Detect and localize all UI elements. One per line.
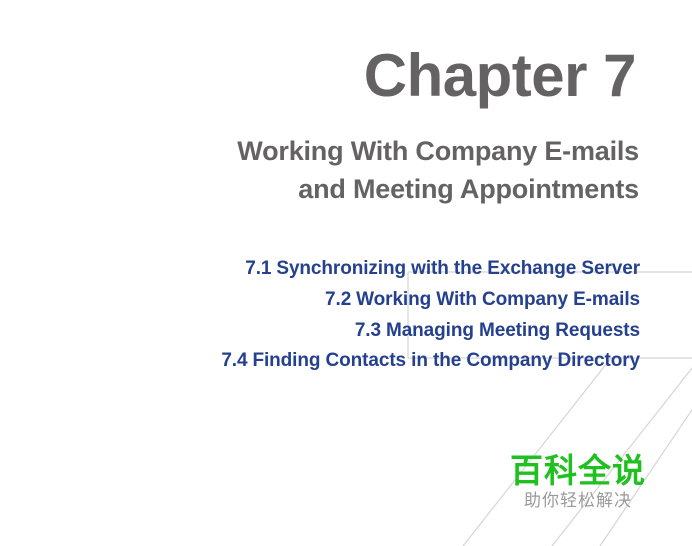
watermark-brand-text: 百科全说: [510, 453, 646, 489]
toc-entry-label: Synchronizing with the Exchange Server: [276, 258, 640, 279]
toc-entry-label: Working With Company E-mails: [356, 289, 640, 310]
page-title: Chapter 7: [364, 44, 636, 107]
toc-entry-label: Finding Contacts in the Company Director…: [252, 350, 640, 371]
table-of-contents: 7.1Synchronizing with the Exchange Serve…: [221, 254, 640, 377]
chapter-subtitle: Working With Company E-mails and Meeting…: [237, 132, 639, 209]
watermark-logo: 百科全说 助你轻松解决: [510, 453, 646, 512]
chapter-subtitle-line-2: and Meeting Appointments: [237, 170, 639, 208]
toc-entry-7-3[interactable]: 7.3Managing Meeting Requests: [221, 316, 640, 347]
slide-content: Chapter 7 Working With Company E-mails a…: [0, 0, 692, 546]
toc-entry-label: Managing Meeting Requests: [386, 320, 640, 341]
toc-entry-number: 7.2: [325, 289, 351, 310]
chapter-title-slide: Chapter 7 Working With Company E-mails a…: [0, 0, 692, 546]
toc-entry-7-4[interactable]: 7.4Finding Contacts in the Company Direc…: [221, 346, 640, 377]
chapter-subtitle-line-1: Working With Company E-mails: [237, 132, 639, 170]
toc-entry-number: 7.4: [221, 350, 247, 371]
toc-entry-number: 7.3: [355, 320, 381, 341]
toc-entry-7-2[interactable]: 7.2Working With Company E-mails: [221, 285, 640, 316]
watermark-tagline-text: 助你轻松解决: [510, 491, 646, 512]
toc-entry-7-1[interactable]: 7.1Synchronizing with the Exchange Serve…: [221, 254, 640, 285]
toc-entry-number: 7.1: [245, 258, 271, 279]
